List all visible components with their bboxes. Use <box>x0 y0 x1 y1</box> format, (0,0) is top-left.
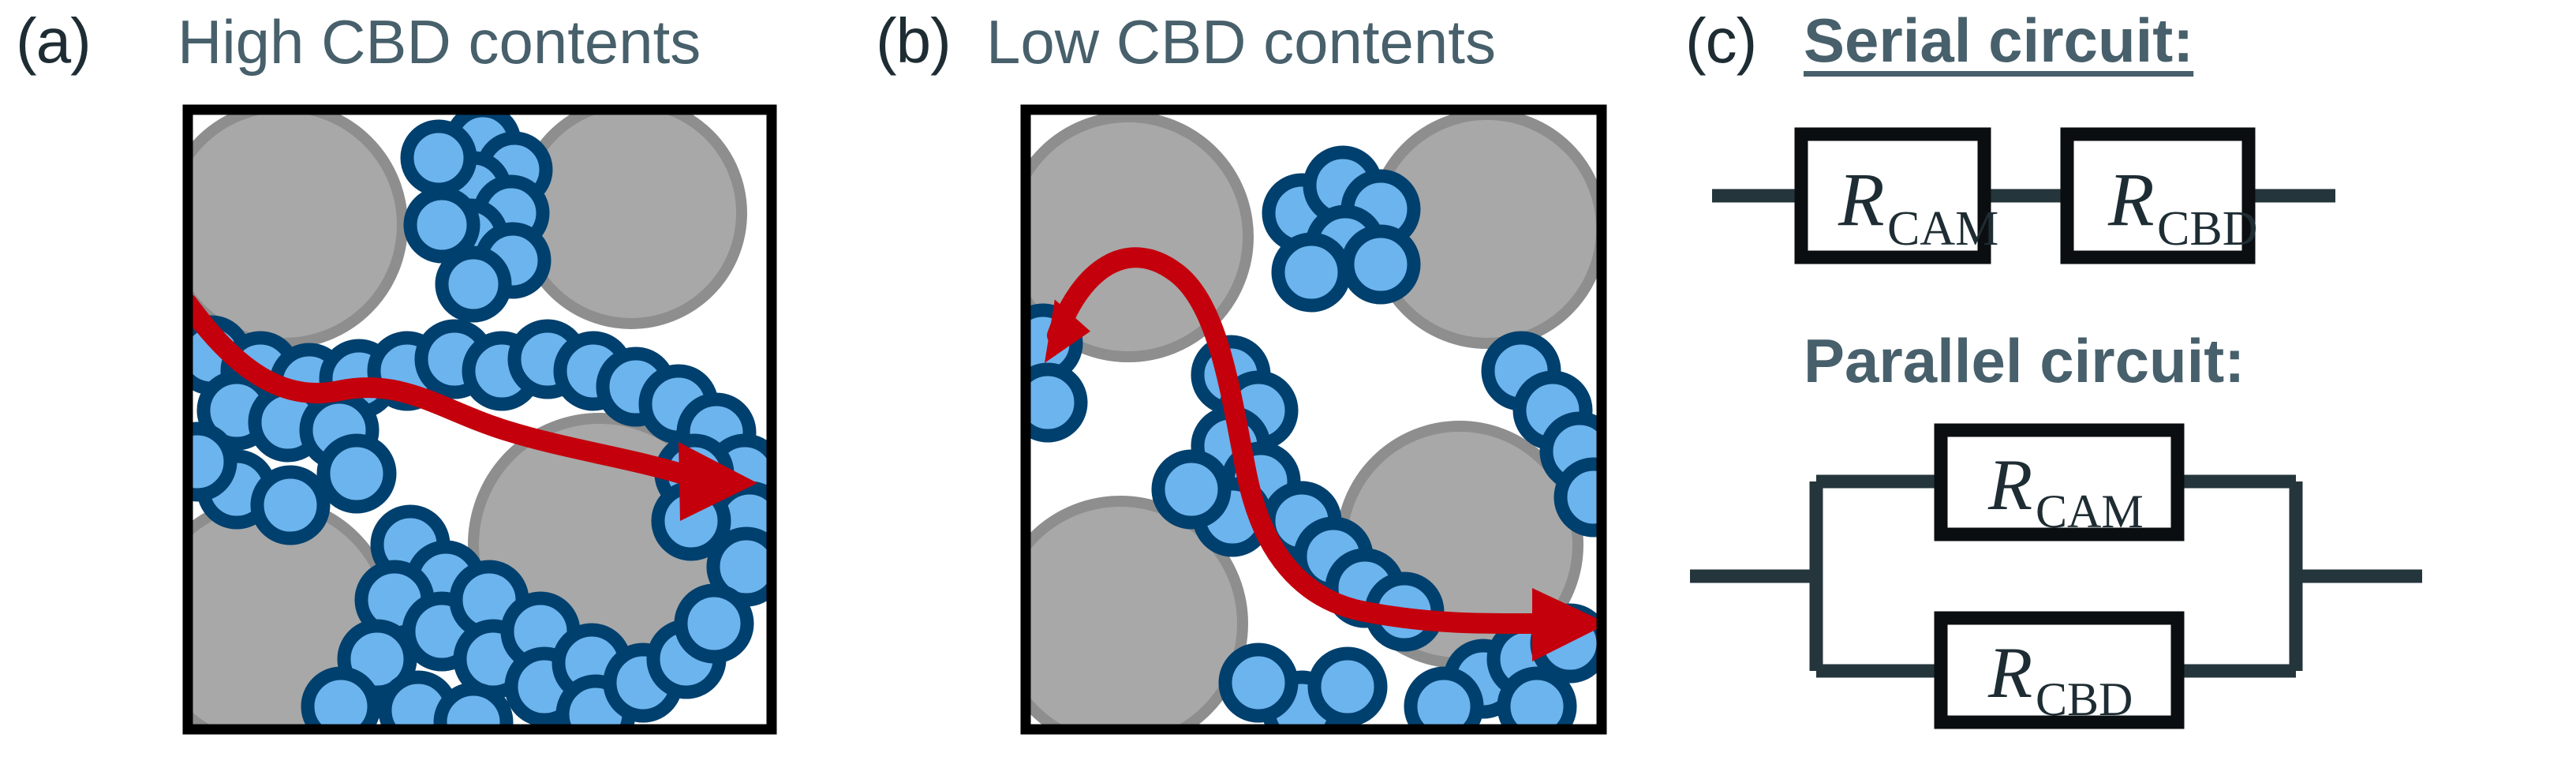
serial-r-cam-subscript: CAM <box>1887 202 1998 256</box>
panel-c: (c) Serial circuit: Parallel circuit: R … <box>1673 0 2576 768</box>
panel-b-microstructure <box>860 0 1673 768</box>
parallel-r-cbd-subscript: CBD <box>2036 673 2133 725</box>
panel-a-microstructure <box>0 0 860 768</box>
serial-r-cbd-symbol: R <box>2107 157 2155 242</box>
panel-b: (b) Low CBD contents <box>860 0 1673 768</box>
serial-r-cbd-subscript: CBD <box>2157 202 2257 256</box>
figure-root: (a) High CBD contents <box>0 0 2576 768</box>
circuit-diagrams: R CAM R CBD R <box>1673 0 2576 768</box>
parallel-r-cam-subscript: CAM <box>2036 485 2144 538</box>
panel-a: (a) High CBD contents <box>0 0 860 768</box>
parallel-r-cbd-symbol: R <box>1987 632 2032 713</box>
parallel-r-cam-symbol: R <box>1987 444 2032 525</box>
serial-r-cam-symbol: R <box>1838 157 1885 242</box>
